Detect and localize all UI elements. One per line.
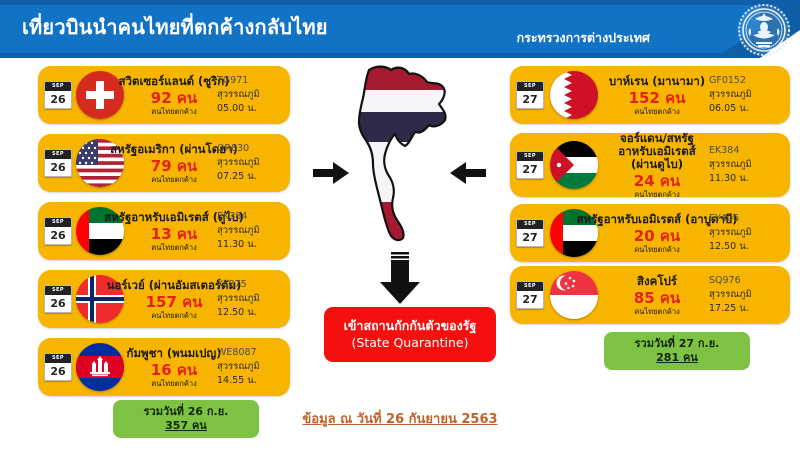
date-badge-month: SEP: [45, 286, 71, 295]
flight-card[interactable]: SEP 26 สวิตเซอร์แลนด์ (ซูริก) 92 คน คนไท…: [38, 66, 290, 124]
date-badge-month: SEP: [45, 218, 71, 227]
passenger-count: 24 คน: [634, 172, 680, 190]
date-badge: SEP 26: [44, 217, 72, 245]
date-badge-month: SEP: [517, 282, 543, 291]
flight-card[interactable]: SEP 27 สิงคโปร์ 85 คน คนไทยตกค้าง SQ976 …: [510, 266, 790, 324]
date-badge-month: SEP: [45, 82, 71, 91]
flight-origin-block: สวิตเซอร์แลนด์ (ซูริก) 92 คน คนไทยตกค้าง: [130, 71, 218, 120]
flight-origin-block: สหรัฐอาหรับเอมิเรตส์ (ดูไบ) 13 คน คนไทยต…: [130, 207, 218, 256]
passenger-count: 152 คน: [629, 89, 686, 107]
arrival-airport: สุวรรณภูมิ: [217, 292, 283, 306]
flight-details: SQ976 สุวรรณภูมิ 17.25 น.: [709, 272, 783, 318]
flight-number: TG971: [217, 74, 283, 88]
stranded-note: คนไทยตกค้าง: [634, 246, 680, 254]
flight-card[interactable]: SEP 27 จอร์แดน/สหรัฐอาหรับเอมิเรตส์ (ผ่า…: [510, 133, 790, 197]
flight-origin-block: กัมพูชา (พนมเปญ) 16 คน คนไทยตกค้าง: [130, 343, 218, 392]
page-header: เที่ยวบินนำคนไทยที่ตกค้างกลับไทย กระทรวง…: [0, 0, 800, 58]
arrival-time: 14.55 น.: [217, 374, 283, 388]
flight-card[interactable]: SEP 26 สหรัฐอาหรับเอมิเรตส์ (ดูไบ) 13 คน…: [38, 202, 290, 260]
flight-origin: กัมพูชา (พนมเปญ): [127, 347, 222, 360]
arrival-time: 11.30 น.: [217, 238, 283, 252]
thai-mfa-emblem-icon: [736, 2, 792, 58]
flight-card[interactable]: SEP 27 บาห์เรน (มานามา) 152 คน คนไทยตกค้…: [510, 66, 790, 124]
date-badge-month: SEP: [517, 152, 543, 161]
arrival-time: 07.25 น.: [217, 170, 283, 184]
flight-card[interactable]: SEP 27 สหรัฐอาหรับเอมิเรตส์ (อาบูดาบี) 2…: [510, 204, 790, 262]
date-badge-day: 26: [45, 295, 71, 312]
stranded-note: คนไทยตกค้าง: [151, 176, 197, 184]
total-value: 281 คน: [656, 351, 698, 365]
flight-number: EK384: [217, 210, 283, 224]
flag-singapore-icon: [550, 271, 598, 319]
date-badge-day: 26: [45, 159, 71, 176]
stranded-note: คนไทยตกค้าง: [634, 191, 680, 199]
flight-details: QR830 สุวรรณภูมิ 07.25 น.: [217, 140, 283, 186]
date-badge-day: 27: [517, 91, 543, 108]
arrival-time: 17.25 น.: [709, 302, 783, 316]
quarantine-label-en: (State Quarantine): [352, 335, 469, 352]
date-badge-day: 27: [517, 291, 543, 308]
date-badge-day: 27: [517, 161, 543, 178]
date-badge-month: SEP: [517, 82, 543, 91]
date-badge: SEP 27: [516, 151, 544, 179]
arrival-airport: สุวรรณภูมิ: [217, 156, 283, 170]
flight-origin: สิงคโปร์: [637, 275, 677, 288]
arrival-time: 11.30 น.: [709, 172, 783, 186]
arrival-airport: สุวรรณภูมิ: [709, 158, 783, 172]
date-badge-day: 26: [45, 91, 71, 108]
flight-origin-block: สิงคโปร์ 85 คน คนไทยตกค้าง: [606, 271, 708, 320]
arrow-down-icon: [380, 252, 420, 308]
flight-card[interactable]: SEP 26 นอร์เวย์ (ผ่านอัมสเตอร์ดัม) 157 ค…: [38, 270, 290, 328]
flight-details: EY406 สุวรรณภูมิ 12.50 น.: [709, 210, 783, 256]
date-badge-day: 27: [517, 229, 543, 246]
flight-origin-block: สหรัฐอเมริกา (ผ่านโดฮา) 79 คน คนไทยตกค้า…: [130, 139, 218, 188]
date-badge: SEP 27: [516, 219, 544, 247]
arrival-time: 12.50 น.: [217, 306, 283, 320]
passenger-count: 13 คน: [151, 225, 197, 243]
date-badge: SEP 26: [44, 285, 72, 313]
date-badge: SEP 27: [516, 81, 544, 109]
passenger-count: 79 คน: [151, 157, 197, 175]
stranded-note: คนไทยตกค้าง: [151, 380, 197, 388]
data-as-of-note: ข้อมูล ณ วันที่ 26 กันยายน 2563: [0, 408, 800, 429]
date-badge: SEP 27: [516, 281, 544, 309]
arrival-airport: สุวรรณภูมิ: [709, 288, 783, 302]
flight-number: EY406: [709, 212, 783, 226]
stranded-note: คนไทยตกค้าง: [151, 312, 197, 320]
date-badge-day: 26: [45, 363, 71, 380]
stranded-note: คนไทยตกค้าง: [634, 108, 680, 116]
flight-number: SQ976: [709, 274, 783, 288]
total-label: รวมวันที่ 27 ก.ย.: [635, 337, 720, 351]
arrival-time: 06.05 น.: [709, 102, 783, 116]
flight-details: EK384 สุวรรณภูมิ 11.30 น.: [709, 139, 783, 191]
stranded-note: คนไทยตกค้าง: [151, 108, 197, 116]
date-badge: SEP 26: [44, 353, 72, 381]
date-badge: SEP 26: [44, 149, 72, 177]
stranded-note: คนไทยตกค้าง: [634, 308, 680, 316]
flight-card[interactable]: SEP 26 กัมพูชา (พนมเปญ) 16 คน คนไทยตกค้า…: [38, 338, 290, 396]
quarantine-label-th: เข้าสถานกักกันตัวของรัฐ: [344, 318, 477, 335]
state-quarantine-box: เข้าสถานกักกันตัวของรัฐ (State Quarantin…: [324, 307, 496, 362]
arrow-right-icon: [313, 162, 349, 188]
arrival-airport: สุวรรณภูมิ: [217, 224, 283, 238]
flag-jordan-icon: [550, 141, 598, 189]
passenger-count: 20 คน: [634, 227, 680, 245]
flight-details: TG971 สุวรรณภูมิ 05.00 น.: [217, 72, 283, 118]
passenger-count: 85 คน: [634, 289, 680, 307]
passenger-count: 92 คน: [151, 89, 197, 107]
flight-origin-block: จอร์แดน/สหรัฐอาหรับเอมิเรตส์ (ผ่านดูไบ) …: [606, 138, 708, 193]
arrow-left-icon: [450, 162, 486, 188]
arrival-airport: สุวรรณภูมิ: [709, 88, 783, 102]
flight-number: QR830: [217, 142, 283, 156]
page-title: เที่ยวบินนำคนไทยที่ตกค้างกลับไทย: [22, 11, 328, 43]
flag-switzerland-icon: [76, 71, 124, 119]
date-badge-month: SEP: [45, 354, 71, 363]
arrival-airport: สุวรรณภูมิ: [709, 226, 783, 240]
flight-card[interactable]: SEP 26 สหรัฐอเมริกา (ผ่านโดฮา) 79 คน คนไ…: [38, 134, 290, 192]
arrival-airport: สุวรรณภูมิ: [217, 88, 283, 102]
flight-origin-block: สหรัฐอาหรับเอมิเรตส์ (อาบูดาบี) 20 คน คน…: [606, 209, 708, 258]
date-badge-day: 26: [45, 227, 71, 244]
flight-origin-block: บาห์เรน (มานามา) 152 คน คนไทยตกค้าง: [606, 71, 708, 120]
flag-cambodia-icon: [76, 343, 124, 391]
date-badge-month: SEP: [517, 220, 543, 229]
flight-number: WE8087: [217, 346, 283, 360]
flight-number: GF0152: [709, 74, 783, 88]
passenger-count: 16 คน: [151, 361, 197, 379]
ministry-label: กระทรวงการต่างประเทศ: [517, 28, 650, 48]
arrival-time: 05.00 น.: [217, 102, 283, 116]
arrival-airport: สุวรรณภูมิ: [217, 360, 283, 374]
flag-bahrain-icon: [550, 71, 598, 119]
date-badge: SEP 26: [44, 81, 72, 109]
flight-origin: สวิตเซอร์แลนด์ (ซูริก): [119, 75, 230, 88]
flight-details: KL875 สุวรรณภูมิ 12.50 น.: [217, 276, 283, 322]
flight-number: KL875: [217, 278, 283, 292]
total-sep27-box: รวมวันที่ 27 ก.ย. 281 คน: [604, 332, 750, 370]
stranded-note: คนไทยตกค้าง: [151, 244, 197, 252]
passenger-count: 157 คน: [146, 293, 203, 311]
flight-origin: บาห์เรน (มานามา): [609, 75, 705, 88]
date-badge-month: SEP: [45, 150, 71, 159]
flight-details: GF0152 สุวรรณภูมิ 06.05 น.: [709, 72, 783, 118]
flight-origin-block: นอร์เวย์ (ผ่านอัมสเตอร์ดัม) 157 คน คนไทย…: [130, 275, 218, 324]
thailand-map-icon: [335, 62, 471, 252]
arrival-time: 12.50 น.: [709, 240, 783, 254]
flight-details: WE8087 สุวรรณภูมิ 14.55 น.: [217, 344, 283, 390]
flight-origin: จอร์แดน/สหรัฐอาหรับเอมิเรตส์ (ผ่านดูไบ): [606, 132, 708, 172]
flight-details: EK384 สุวรรณภูมิ 11.30 น.: [217, 208, 283, 254]
flight-number: EK384: [709, 144, 783, 158]
